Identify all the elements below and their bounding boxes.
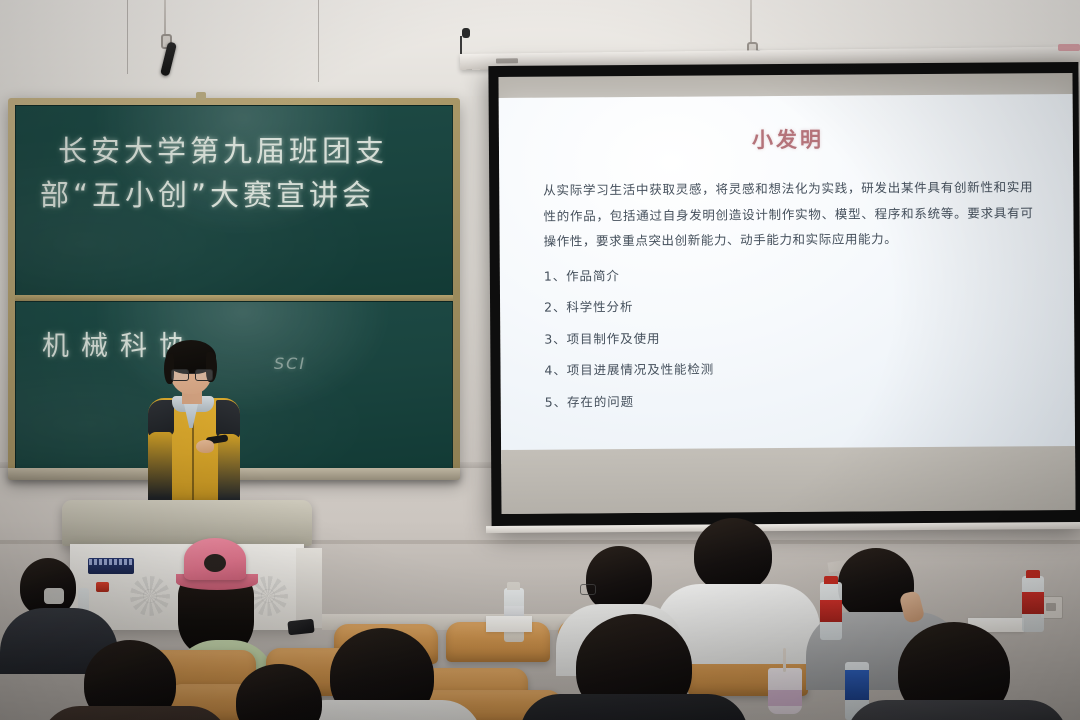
ceiling-wire-left (127, 0, 128, 74)
screen-lower-blank-band (501, 446, 1075, 514)
presenter-arm-right (218, 434, 240, 510)
ceiling-rod-left (164, 0, 166, 36)
slide-list: 1、作品简介 2、科学性分析 3、项目制作及使用 4、项目进展情况及性能检测 5… (544, 265, 1035, 411)
bottle-cap-red-right (824, 576, 838, 584)
slide-list-item-1: 1、作品简介 (544, 265, 1034, 284)
lecture-hall-photo: 长安大学第九届班团支 部“五小创”大赛宣讲会 机械科协 SCI 小发明 从实际学… (0, 0, 1080, 720)
slide-content: 小发明 从实际学习生活中获取灵感，将灵感和想法化为实践，研发出某件具有创新性和实… (499, 94, 1076, 464)
presenter-shoulder-left (148, 400, 174, 436)
coca-cola-label-far (1022, 592, 1044, 614)
glasses-icon (171, 369, 211, 379)
student-body-front-3 (520, 694, 748, 720)
student-body-front-1 (40, 706, 230, 720)
cap-back-hole (204, 554, 226, 572)
slide-list-item-4: 4、项目进展情况及性能检测 (544, 360, 1034, 379)
phone-on-desk[interactable] (287, 619, 314, 636)
podium-power-indicator[interactable] (96, 582, 109, 592)
podium-label-text (89, 559, 133, 565)
ceiling-rod-screen (750, 0, 752, 44)
blue-bottle-label (845, 670, 869, 700)
slide-list-item-3: 3、项目制作及使用 (544, 328, 1034, 347)
projector-screen-surface: 小发明 从实际学习生活中获取灵感，将灵感和想法化为实践，研发出某件具有创新性和实… (498, 73, 1075, 514)
roller-brand-label (496, 58, 518, 63)
student-head-glasses (586, 546, 652, 612)
bottle-cap-clear-left (507, 582, 520, 590)
chalk-title-line2: 部“五小创”大赛宣讲会 (40, 172, 375, 214)
slide-title: 小发明 (543, 122, 1033, 155)
ceiling-wire-mid (318, 0, 319, 82)
slide-paragraph: 从实际学习生活中获取灵感，将灵感和想法化为实践，研发出某件具有创新性和实用性的作… (543, 174, 1034, 254)
student-body-front-4 (846, 700, 1068, 720)
student-head-center-white (694, 518, 772, 592)
projected-slide: 小发明 从实际学习生活中获取灵感，将灵感和想法化为实践，研发出某件具有创新性和实… (499, 94, 1076, 464)
milk-tea-cup-band (768, 690, 802, 706)
blackboard-top-peg (196, 92, 206, 100)
paper-sheet-mid (486, 616, 532, 632)
glasses-icon-audience (580, 584, 596, 595)
podium-side-panel (296, 548, 322, 628)
bottle-cap-red-far (1026, 570, 1040, 578)
presenter-arm-left (148, 432, 172, 510)
chalk-title-line1: 长安大学第九届班团支 (58, 128, 388, 170)
presenter-shoulder-right (216, 400, 240, 438)
wall-pink-marker (1058, 44, 1080, 51)
cup-straw (783, 648, 786, 672)
podium-speaker-grille-left (130, 576, 170, 616)
coca-cola-label-right (820, 600, 842, 622)
podium-top (62, 500, 312, 546)
podium-label-plate (88, 558, 134, 574)
chalk-corner-note: SCI (274, 354, 306, 373)
slide-list-item-2: 2、科学性分析 (544, 296, 1034, 315)
blackboard-upper-panel: 长安大学第九届班团支 部“五小创”大赛宣讲会 (15, 105, 453, 299)
slide-list-item-5: 5、存在的问题 (545, 391, 1035, 410)
presenter-hand (196, 440, 214, 453)
face-mask-icon (44, 588, 64, 604)
projector-screen: 小发明 从实际学习生活中获取灵感，将灵感和想法化为实践，研发出某件具有创新性和实… (488, 62, 1080, 528)
outlet-slot (1046, 603, 1056, 611)
